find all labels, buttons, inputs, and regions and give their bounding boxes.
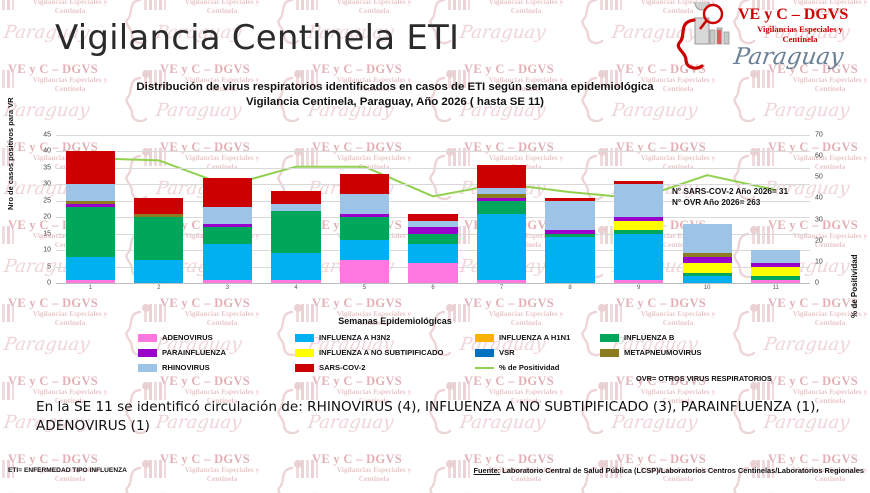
legend-color-swatch-icon — [295, 349, 314, 357]
logo-title: VE y C – DGVS — [738, 6, 848, 24]
bar-segment — [271, 191, 320, 204]
watermark-subtitle: Vigilancias Especiales yCentinela — [318, 0, 430, 15]
watermark-figure-icon — [274, 456, 314, 493]
watermark-figure-icon — [122, 456, 162, 493]
watermark-subtitle: Vigilancias Especiales yCentinela — [166, 0, 278, 15]
y-axis-tick-right: 30 — [815, 216, 823, 223]
chart-title-line2: Vigilancia Centinela, Paraguay, Año 2026… — [246, 96, 544, 108]
bar-segment — [751, 250, 800, 263]
watermark-bars-icon — [448, 460, 470, 478]
watermark-title: VE y C – DGVS — [312, 62, 402, 77]
legend-item-label: PARAINFLUENZA — [162, 348, 226, 357]
watermark-subtitle: Vigilancias Especiales yCentinela — [318, 466, 430, 483]
bar-segment — [683, 263, 732, 273]
watermark-title: VE y C – DGVS — [160, 62, 250, 77]
y-axis-tick-right: 20 — [815, 237, 823, 244]
watermark-title: VE y C – DGVS — [464, 62, 554, 77]
legend-item-label: INFLUENZA B — [624, 333, 674, 342]
y-axis-tick-left: 45 — [43, 132, 51, 139]
gridline — [56, 135, 810, 136]
legend-item-de-positividad[interactable]: % de Positividad — [475, 360, 570, 375]
watermark-figure-icon — [426, 456, 466, 493]
plot-area: 0510152025303540450102030405060701234567… — [56, 135, 810, 283]
bar-segment — [545, 201, 594, 231]
bar-segment — [751, 267, 800, 277]
x-axis-tick: 6 — [431, 285, 434, 291]
bar-segment — [340, 240, 389, 260]
x-axis-tick: 9 — [637, 285, 640, 291]
x-axis-tick: 3 — [226, 285, 229, 291]
legend-item-label: RHINOVIRUS — [162, 363, 210, 372]
y-axis-label-right: % de Positividad — [850, 254, 859, 318]
footer-source-label: Fuente: — [473, 466, 500, 475]
legend-item-label: % de Positividad — [499, 363, 559, 372]
watermark-subtitle: Vigilancias Especiales yCentinela — [470, 0, 582, 15]
bar-segment — [203, 244, 252, 280]
y-axis-tick-right: 50 — [815, 174, 823, 181]
bar-segment — [683, 253, 732, 256]
legend-item-label: VSR — [499, 348, 515, 357]
x-axis-label: Semanas Epidemiológicas — [0, 316, 790, 326]
footer-source-text: Laboratorio Central de Salud Pública (LC… — [500, 466, 864, 475]
bar-column — [340, 174, 389, 283]
note-ovr: N° OVR Año 2026= 263 — [672, 197, 788, 208]
watermark-bars-icon — [144, 0, 166, 10]
bar-segment — [203, 224, 252, 227]
y-axis-tick-right: 0 — [815, 280, 819, 287]
bar-segment — [545, 198, 594, 201]
bar-segment — [340, 217, 389, 240]
bar-segment — [477, 201, 526, 214]
y-axis-tick-left: 20 — [43, 214, 51, 221]
summary-notes: N° SARS-COV-2 Año 2026= 31 N° OVR Año 20… — [672, 186, 788, 208]
gridline — [56, 151, 810, 152]
legend-item-rhinovirus[interactable]: RHINOVIRUS — [138, 360, 226, 375]
watermark-figure-icon — [0, 456, 10, 493]
note-sars: N° SARS-COV-2 Año 2026= 31 — [672, 186, 788, 197]
bar-segment — [66, 204, 115, 207]
bar-segment — [66, 151, 115, 184]
watermark-figure-icon — [0, 0, 10, 58]
watermark-bars-icon — [448, 0, 470, 10]
bar-column — [751, 250, 800, 283]
legend-item-metapneumovirus[interactable]: METAPNEUMOVIRUS — [600, 345, 702, 360]
watermark-subtitle: Vigilancias Especiales yCentinela — [166, 466, 278, 483]
ovr-note: OVR= OTROS VIRUS RESPIRATORIOS — [636, 374, 772, 383]
bar-segment — [134, 260, 183, 283]
bar-segment — [134, 214, 183, 217]
bar-segment — [683, 273, 732, 276]
watermark-bars-icon — [296, 460, 318, 478]
y-axis-tick-right: 40 — [815, 195, 823, 202]
watermark-bars-icon — [600, 0, 622, 10]
x-axis-tick: 7 — [500, 285, 503, 291]
chart-panel: Distribución de virus respiratorios iden… — [0, 78, 870, 313]
watermark-bars-icon — [0, 0, 14, 10]
y-axis-tick-left: 5 — [47, 263, 51, 270]
footer-source: Fuente: Laboratorio Central de Salud Púb… — [473, 466, 864, 475]
bar-segment — [408, 263, 457, 283]
y-axis-tick-left: 40 — [43, 148, 51, 155]
bar-segment — [340, 174, 389, 194]
bar-segment — [340, 214, 389, 217]
y-axis-tick-left: 0 — [47, 280, 51, 287]
bar-segment — [751, 276, 800, 279]
legend-color-swatch-icon — [138, 334, 157, 342]
watermark-title: VE y C – DGVS — [8, 452, 98, 467]
bar-segment — [545, 234, 594, 237]
logo: VE y C – DGVS Vigilancias Especiales yCe… — [672, 2, 864, 74]
legend-color-swatch-icon — [138, 364, 157, 372]
bar-column — [408, 214, 457, 283]
logo-subtitle: Vigilancias Especiales yCentinela — [738, 24, 862, 44]
y-axis-label-left: Nro de casos positivos para VR — [6, 97, 15, 210]
x-axis-tick: 4 — [294, 285, 297, 291]
x-axis-line — [56, 283, 810, 284]
chart-title: Distribución de virus respiratorios iden… — [0, 80, 790, 110]
legend-item-sars-cov-2[interactable]: SARS-COV-2 — [295, 360, 443, 375]
watermark-title: VE y C – DGVS — [312, 452, 402, 467]
watermark-figure-icon — [0, 378, 10, 448]
gridline — [56, 168, 810, 169]
y-axis-tick-right: 10 — [815, 258, 823, 265]
legend-column-3: INFLUENZA A H1N1VSR% de Positividad — [475, 330, 570, 375]
watermark-tile: VE y C – DGVSVigilancias Especiales yCen… — [274, 450, 449, 493]
legend-column-4: INFLUENZA BMETAPNEUMOVIRUS — [600, 330, 702, 360]
legend-item-influenza-b[interactable]: INFLUENZA B — [600, 330, 702, 345]
legend-column-1: ADENOVIRUSPARAINFLUENZARHINOVIRUS — [138, 330, 226, 375]
bar-segment — [203, 178, 252, 208]
y-axis-tick-left: 25 — [43, 197, 51, 204]
bar-segment — [477, 198, 526, 201]
footer-abbreviation: ETI= ENFERMEDAD TIPO INFLUENZA — [8, 467, 127, 474]
watermark-bars-icon — [144, 460, 166, 478]
bar-segment — [408, 221, 457, 228]
legend-item-label: SARS-COV-2 — [319, 363, 365, 372]
x-axis-tick: 11 — [773, 285, 779, 291]
watermark-subtitle: Vigilancias Especiales yCentinela — [14, 0, 126, 15]
x-axis-tick: 10 — [704, 285, 711, 291]
bar-segment — [66, 207, 115, 256]
bar-segment — [408, 234, 457, 244]
logo-country: Paraguay — [732, 44, 845, 70]
chart-title-line1: Distribución de virus respiratorios iden… — [136, 81, 653, 93]
bar-column — [683, 224, 732, 283]
logo-figure-icon — [672, 2, 738, 74]
bar-column — [614, 181, 663, 283]
bar-segment — [614, 184, 663, 217]
legend-item-influenza-a-no-subtipificado[interactable]: INFLUENZA A NO SUBTIPIFICADO — [295, 345, 443, 360]
y-axis-tick-left: 30 — [43, 181, 51, 188]
bar-segment — [408, 244, 457, 264]
watermark-tile: VE y C – DGVSVigilancias Especiales yCen… — [122, 450, 297, 493]
bar-column — [66, 151, 115, 283]
bar-column — [477, 165, 526, 283]
y-axis-tick-right: 60 — [815, 153, 823, 160]
watermark-title: VE y C – DGVS — [8, 62, 98, 77]
bar-segment — [408, 214, 457, 221]
bar-segment — [614, 230, 663, 233]
bar-segment — [683, 257, 732, 264]
bar-segment — [203, 227, 252, 243]
legend-item-label: METAPNEUMOVIRUS — [624, 348, 702, 357]
legend-item-adenovirus[interactable]: ADENOVIRUS — [138, 330, 226, 345]
bar-segment — [340, 194, 389, 214]
bar-column — [271, 191, 320, 283]
legend-color-swatch-icon — [138, 349, 157, 357]
bar-column — [203, 178, 252, 283]
bar-segment — [477, 194, 526, 197]
watermark-title: VE y C – DGVS — [616, 452, 706, 467]
bar-segment — [66, 257, 115, 280]
watermark-title: VE y C – DGVS — [160, 452, 250, 467]
legend-color-swatch-icon — [600, 334, 619, 342]
watermark-figure-icon — [578, 0, 618, 58]
bar-segment — [614, 221, 663, 231]
x-axis-tick: 2 — [157, 285, 160, 291]
legend-item-label: INFLUENZA A H3N2 — [319, 333, 390, 342]
legend-item-label: INFLUENZA A H1N1 — [499, 333, 570, 342]
bar-segment — [683, 224, 732, 254]
bar-segment — [614, 234, 663, 280]
bar-segment — [477, 165, 526, 188]
bar-segment — [751, 263, 800, 266]
legend-color-swatch-icon — [600, 349, 619, 357]
legend-color-swatch-icon — [295, 364, 314, 372]
x-axis-tick: 1 — [89, 285, 92, 291]
watermark-title: VE y C – DGVS — [768, 452, 858, 467]
legend-color-swatch-icon — [475, 334, 494, 342]
legend-item-label: ADENOVIRUS — [162, 333, 213, 342]
bar-segment — [203, 207, 252, 223]
legend-line-swatch-icon — [475, 364, 494, 372]
bar-segment — [271, 253, 320, 279]
bar-segment — [134, 198, 183, 214]
y-axis-tick-right: 70 — [815, 132, 823, 139]
legend-item-label: INFLUENZA A NO SUBTIPIFICADO — [319, 348, 443, 357]
bar-segment — [340, 260, 389, 283]
legend-column-2: INFLUENZA A H3N2INFLUENZA A NO SUBTIPIFI… — [295, 330, 443, 375]
bar-segment — [545, 230, 594, 233]
legend-item-parainfluenza[interactable]: PARAINFLUENZA — [138, 345, 226, 360]
y-axis-tick-left: 35 — [43, 164, 51, 171]
bar-segment — [545, 237, 594, 283]
bar-segment — [271, 204, 320, 211]
watermark-bars-icon — [296, 0, 318, 10]
bar-segment — [408, 227, 457, 234]
bar-segment — [614, 181, 663, 184]
bar-segment — [477, 188, 526, 195]
bar-segment — [134, 217, 183, 260]
page-title: Vigilancia Centinela ETI — [55, 18, 459, 58]
bar-column — [545, 198, 594, 284]
chart-legend: Semanas Epidemiológicas ADENOVIRUSPARAIN… — [0, 316, 870, 388]
conclusion-text: En la SE 11 se identificó circulación de… — [36, 398, 846, 436]
bar-column — [134, 198, 183, 284]
watermark-country: Paraguay — [459, 22, 547, 43]
legend-item-influenza-a-h1n1[interactable]: INFLUENZA A H1N1 — [475, 330, 570, 345]
legend-item-influenza-a-h3n2[interactable]: INFLUENZA A H3N2 — [295, 330, 443, 345]
bar-segment — [66, 184, 115, 200]
bar-segment — [614, 217, 663, 220]
y-axis-tick-left: 15 — [43, 230, 51, 237]
bar-segment — [271, 211, 320, 254]
bar-segment — [66, 201, 115, 204]
legend-color-swatch-icon — [475, 349, 494, 357]
legend-color-swatch-icon — [295, 334, 314, 342]
legend-item-vsr[interactable]: VSR — [475, 345, 570, 360]
watermark-title: VE y C – DGVS — [464, 452, 554, 467]
x-axis-tick: 5 — [363, 285, 366, 291]
x-axis-tick: 8 — [568, 285, 571, 291]
y-axis-tick-left: 10 — [43, 247, 51, 254]
bar-segment — [477, 214, 526, 280]
